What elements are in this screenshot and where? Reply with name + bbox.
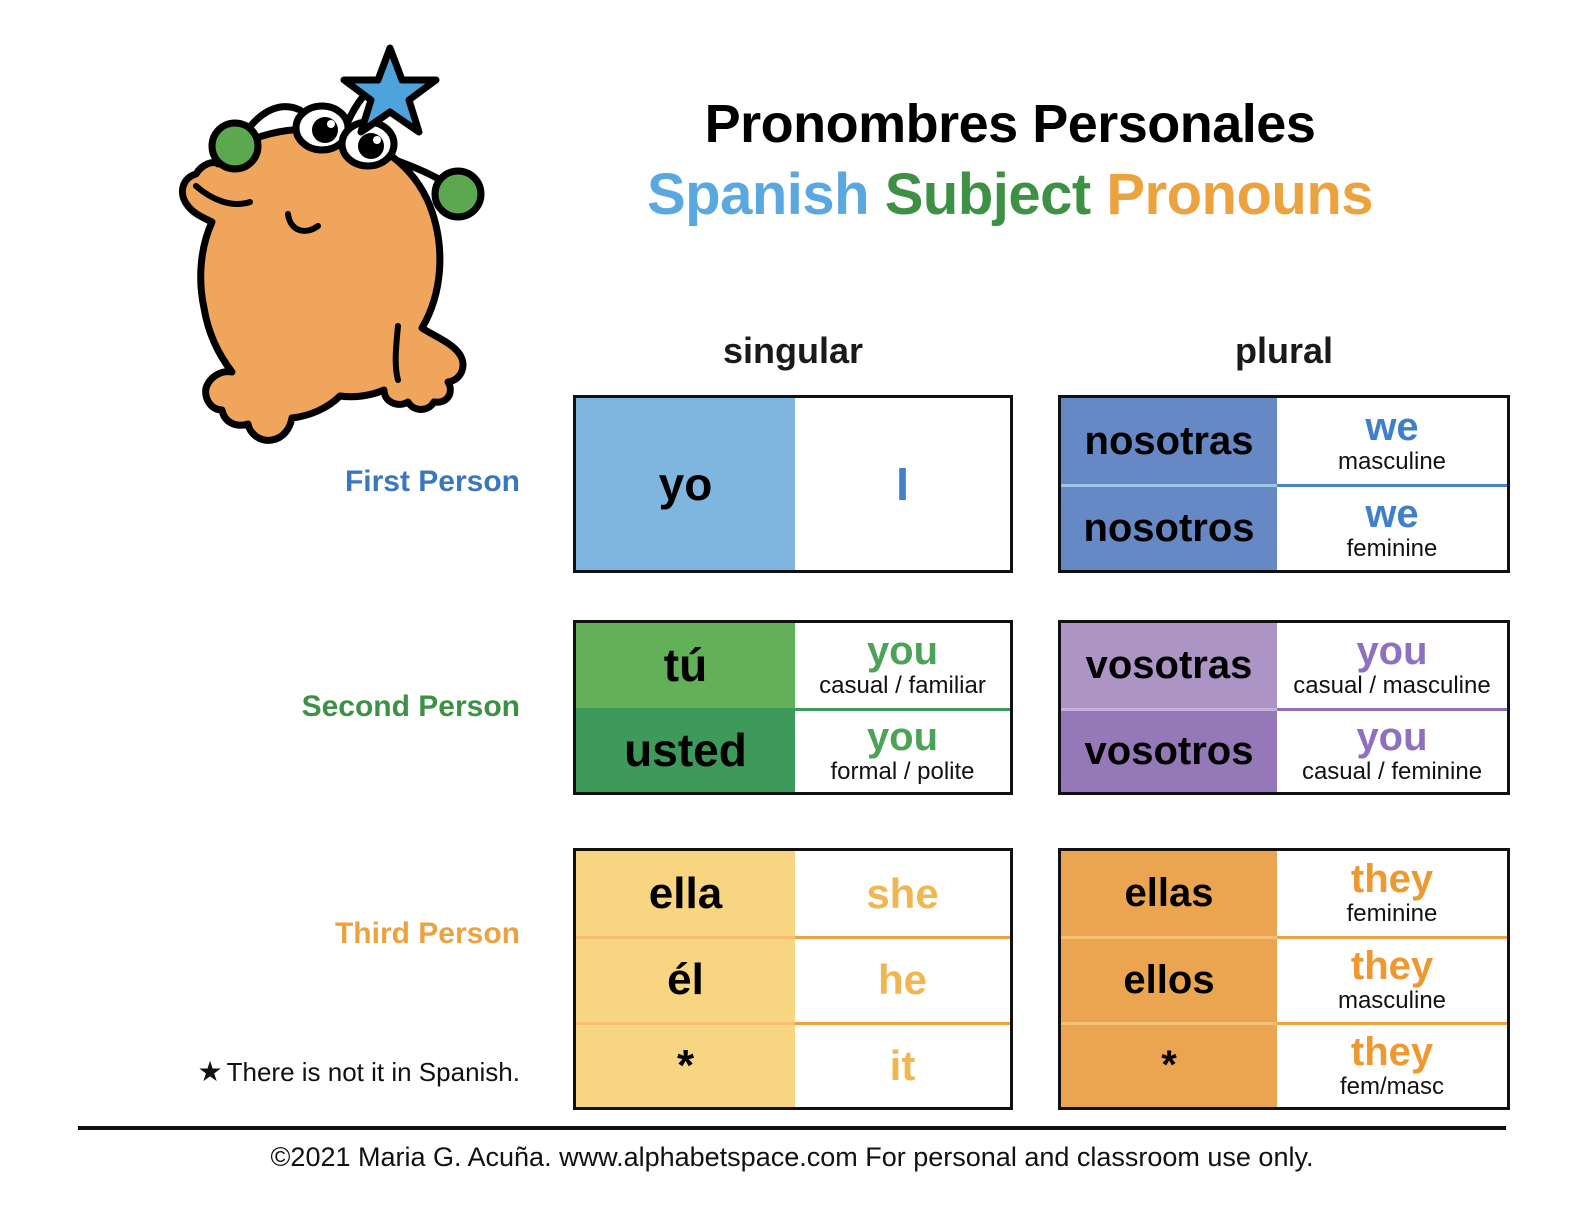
blue-star-icon — [344, 48, 436, 132]
table-first-person-plural: nosotras we masculine nosotros we femini… — [1058, 395, 1510, 573]
table-row: él he — [576, 936, 1010, 1021]
table-third-person-singular: ella she él he * it — [573, 848, 1013, 1110]
table-row: nosotras we masculine — [1061, 398, 1507, 484]
cell-english-translation: you formal / polite — [795, 708, 1010, 793]
cell-english-translation: you casual / familiar — [795, 623, 1010, 708]
table-row: * it — [576, 1022, 1010, 1107]
cell-spanish-pronoun: * — [576, 1022, 795, 1107]
english-note: casual / masculine — [1293, 673, 1490, 699]
english-word: they — [1351, 1032, 1433, 1072]
english-word: we — [1365, 407, 1418, 447]
english-word: I — [896, 461, 909, 507]
english-note: formal / polite — [830, 759, 974, 785]
table-row: vosotras you casual / masculine — [1061, 623, 1507, 708]
table-row: * they fem/masc — [1061, 1022, 1507, 1107]
green-ball-icon-left — [212, 123, 258, 169]
row-label-second-person: Second Person — [40, 690, 520, 724]
column-header-singular: singular — [573, 330, 1013, 372]
title-word-pronouns: Pronouns — [1106, 162, 1373, 227]
cell-english-translation: you casual / feminine — [1277, 708, 1507, 793]
english-note: feminine — [1347, 536, 1438, 562]
cell-spanish-pronoun: ellos — [1061, 936, 1277, 1021]
english-word: you — [867, 631, 938, 671]
cell-spanish-pronoun: tú — [576, 623, 795, 708]
english-note: casual / feminine — [1302, 759, 1482, 785]
table-row: ella she — [576, 851, 1010, 936]
cell-english-translation: they feminine — [1277, 851, 1507, 936]
english-word: they — [1351, 946, 1433, 986]
mascot-illustration — [78, 36, 498, 456]
cell-spanish-pronoun: vosotras — [1061, 623, 1277, 708]
cell-english-translation: she — [795, 851, 1010, 936]
asterisk-icon: ★ — [198, 1056, 223, 1087]
cell-english-translation: you casual / masculine — [1277, 623, 1507, 708]
cell-english-translation: we feminine — [1277, 484, 1507, 570]
cell-english-translation: it — [795, 1022, 1010, 1107]
cell-spanish-pronoun: ellas — [1061, 851, 1277, 936]
cell-english-translation: I — [795, 398, 1010, 570]
cell-spanish-pronoun: usted — [576, 708, 795, 793]
english-note: fem/masc — [1340, 1074, 1444, 1100]
table-second-person-singular: tú you casual / familiar usted you forma… — [573, 620, 1013, 795]
english-word: we — [1365, 494, 1418, 534]
english-note: feminine — [1347, 901, 1438, 927]
english-note: casual / familiar — [819, 673, 986, 699]
title-word-subject: Subject — [885, 162, 1091, 227]
english-word: it — [890, 1045, 916, 1087]
mascot-body — [182, 129, 463, 440]
english-word: you — [1356, 631, 1427, 671]
english-note: masculine — [1338, 449, 1446, 475]
cell-english-translation: we masculine — [1277, 398, 1507, 484]
table-row: ellos they masculine — [1061, 936, 1507, 1021]
column-header-plural: plural — [1058, 330, 1510, 372]
footnote: ★There is not it in Spanish. — [40, 1055, 520, 1088]
table-second-person-plural: vosotras you casual / masculine vosotros… — [1058, 620, 1510, 795]
title-block: Pronombres Personales Spanish Subject Pr… — [520, 96, 1500, 231]
table-row: nosotros we feminine — [1061, 484, 1507, 570]
cell-spanish-pronoun: yo — [576, 398, 795, 570]
english-word: you — [1356, 717, 1427, 757]
cell-spanish-pronoun: él — [576, 936, 795, 1021]
cell-spanish-pronoun: ella — [576, 851, 795, 936]
cell-spanish-pronoun: vosotros — [1061, 708, 1277, 793]
english-note: masculine — [1338, 988, 1446, 1014]
cell-english-translation: they masculine — [1277, 936, 1507, 1021]
cell-spanish-pronoun: nosotros — [1061, 484, 1277, 570]
cell-spanish-pronoun: nosotras — [1061, 398, 1277, 484]
table-first-person-singular: yo I — [573, 395, 1013, 573]
row-label-third-person: Third Person — [40, 917, 520, 951]
table-third-person-plural: ellas they feminine ellos they masculine… — [1058, 848, 1510, 1110]
green-ball-icon-right — [435, 171, 481, 217]
table-row: tú you casual / familiar — [576, 623, 1010, 708]
title-word-spanish: Spanish — [647, 162, 869, 227]
footer-divider — [78, 1126, 1506, 1130]
english-word: you — [867, 717, 938, 757]
cell-english-translation: he — [795, 936, 1010, 1021]
cell-spanish-pronoun: * — [1061, 1022, 1277, 1107]
english-word: he — [878, 959, 927, 1001]
table-row: yo I — [576, 398, 1010, 570]
page-title-english: Spanish Subject Pronouns — [520, 159, 1500, 232]
footnote-text: There is not it in Spanish. — [227, 1057, 520, 1087]
table-row: vosotros you casual / feminine — [1061, 708, 1507, 793]
page-title-spanish: Pronombres Personales — [520, 96, 1500, 153]
english-word: she — [866, 873, 938, 915]
cell-english-translation: they fem/masc — [1277, 1022, 1507, 1107]
english-word: they — [1351, 859, 1433, 899]
table-row: usted you formal / polite — [576, 708, 1010, 793]
copyright-text: ©2021 Maria G. Acuña. www.alphabetspace.… — [78, 1142, 1506, 1173]
table-row: ellas they feminine — [1061, 851, 1507, 936]
row-label-first-person: First Person — [40, 465, 520, 499]
